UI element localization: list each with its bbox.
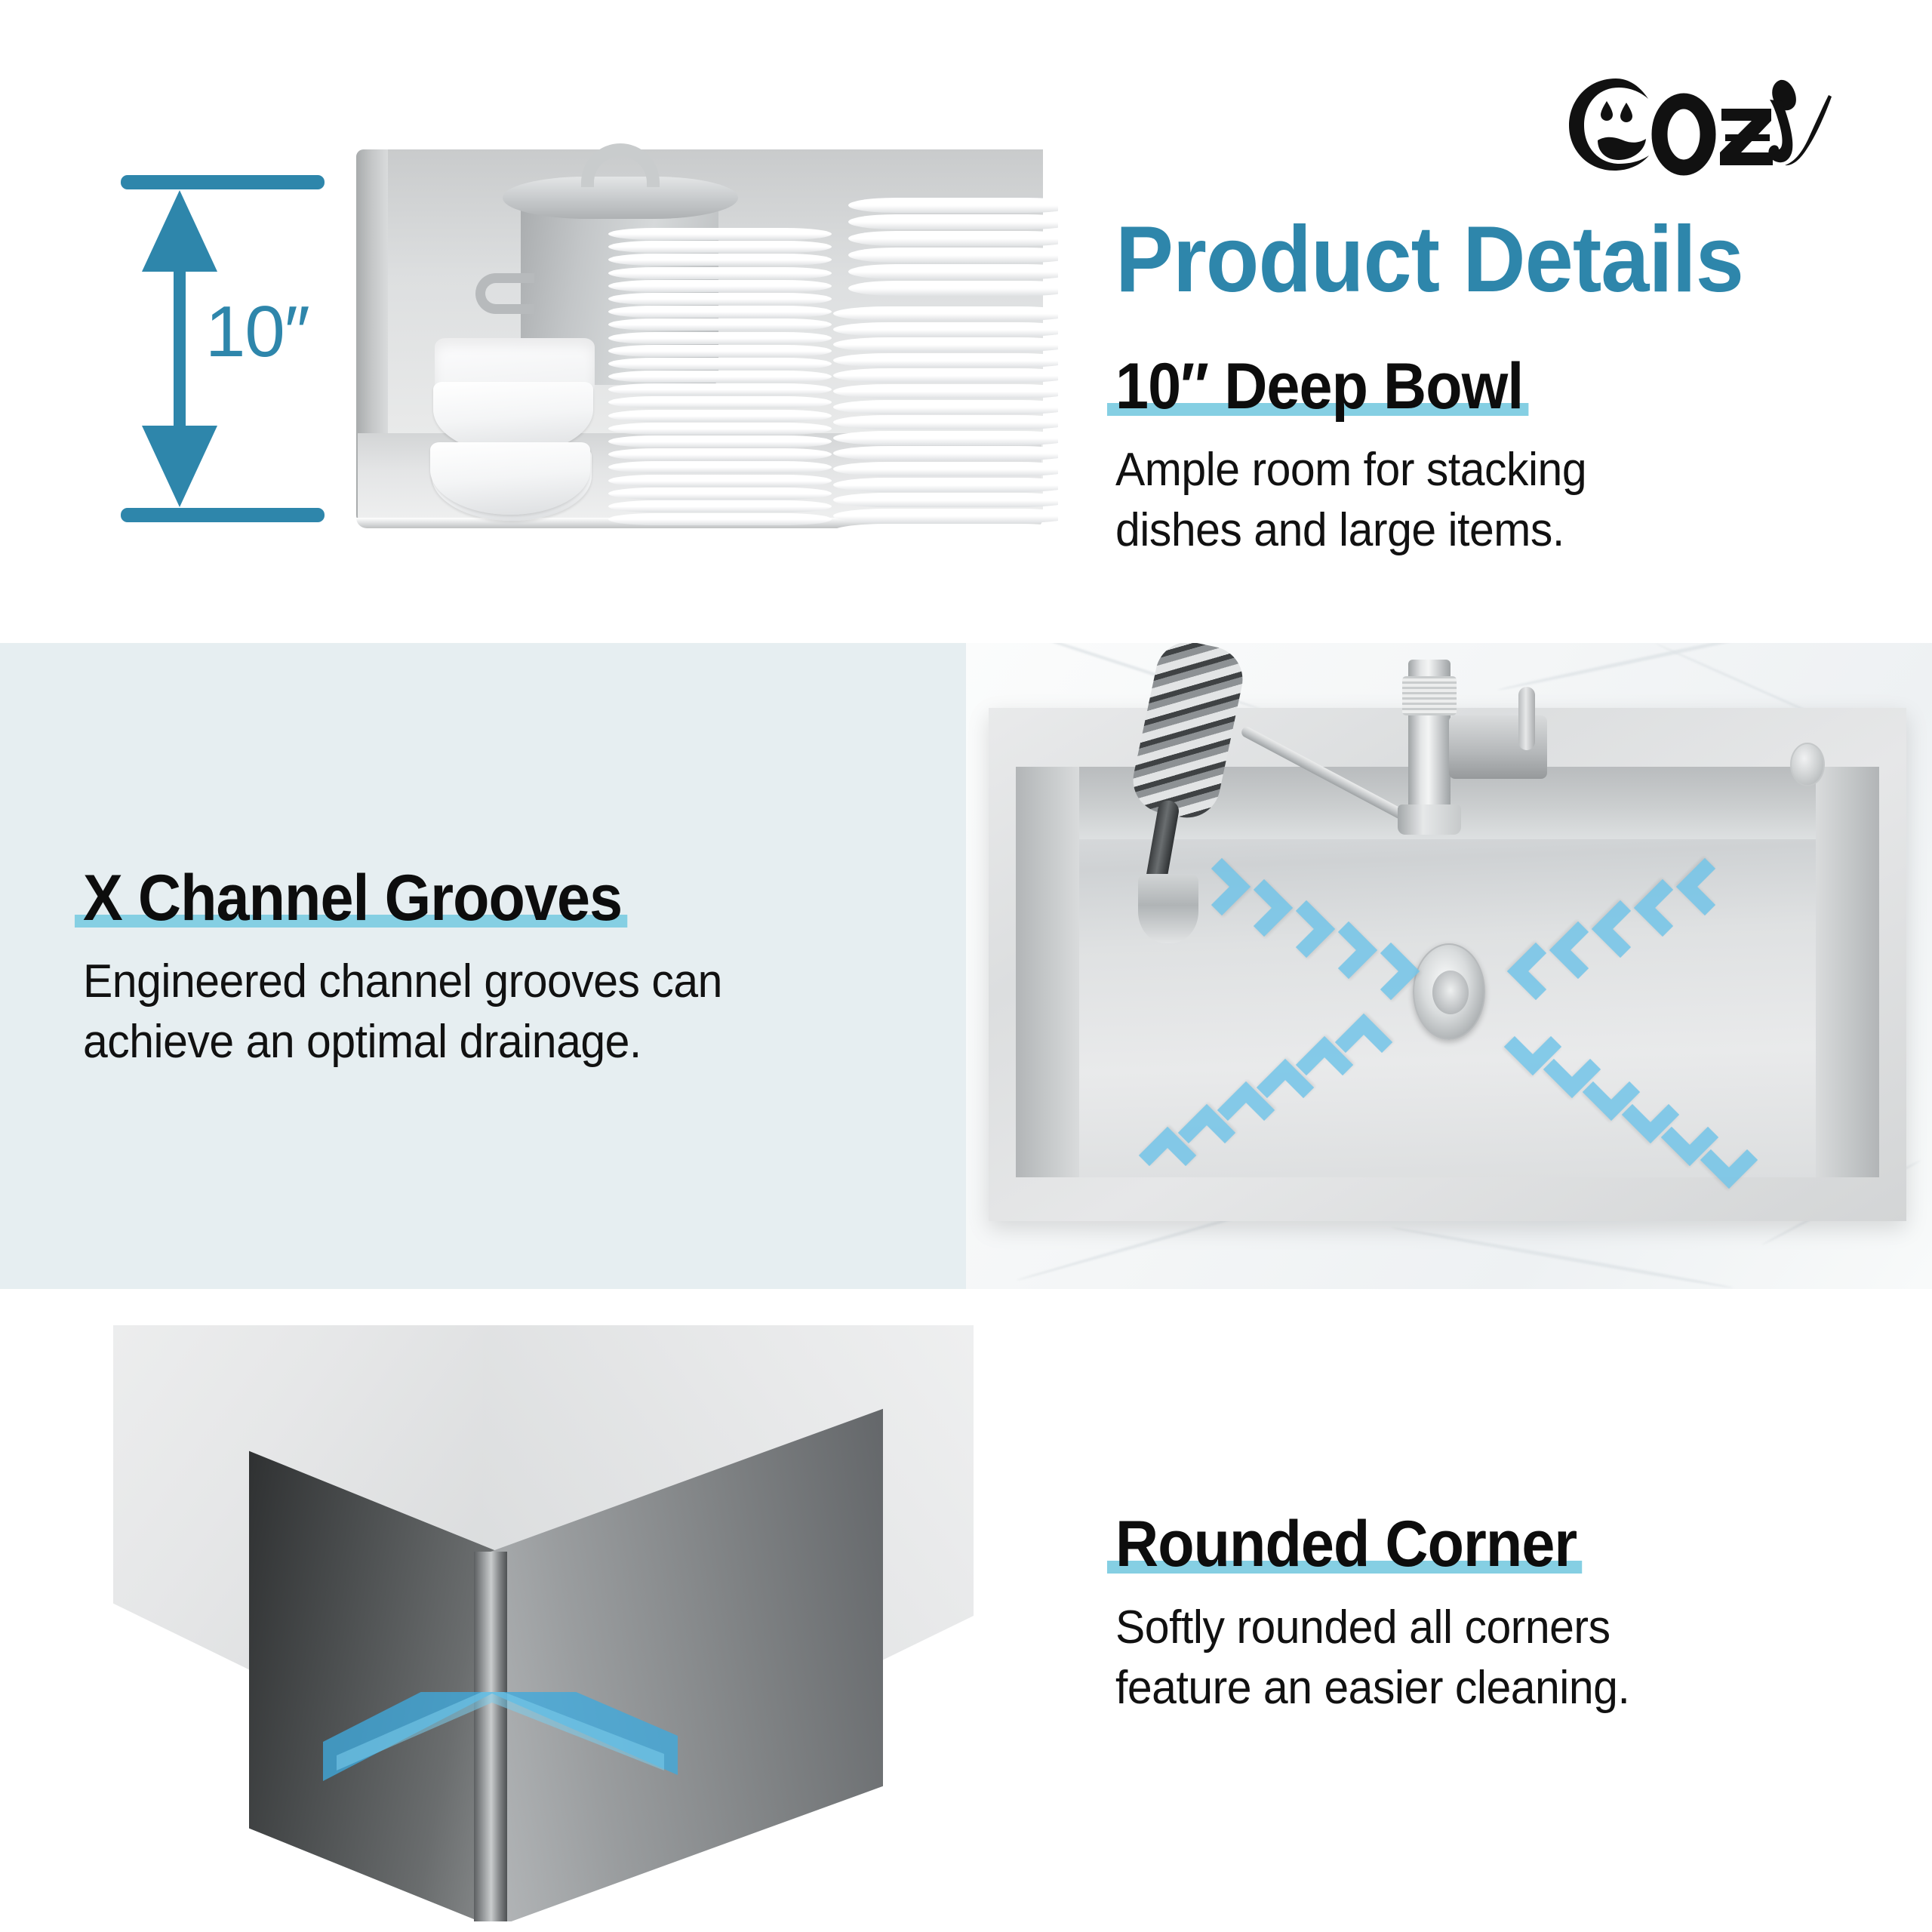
faucet-lever-handle [1518,687,1535,750]
marble-vein [1497,643,1808,692]
faucet-base [1398,804,1461,835]
deep-bowl-dishes-photo [341,113,1058,536]
feature-block-rounded-corner: Rounded Corner Softly rounded all corner… [1115,1511,1657,1718]
feature-body-x-channel-grooves: Engineered channel grooves can achieve a… [83,952,722,1072]
bowl-stack-right [833,306,1058,530]
cozy-logo [1543,65,1860,178]
plate-stack-center [608,228,832,530]
marble-vein [1391,1226,1734,1289]
basin-right-wall [1816,767,1879,1177]
depth-dimension-label: 10″ [205,296,309,368]
plate-stack-upper-right [848,198,1058,300]
soap-dispenser-hole [1790,743,1825,786]
feature-heading-text: 10″ Deep Bowl [1115,350,1523,423]
faucet-collar [1402,676,1457,715]
feature-body-rounded-corner: Softly rounded all corners feature an ea… [1115,1598,1629,1718]
rounded-corner-closeup-photo [113,1325,974,1921]
feature-heading-text: X Channel Grooves [83,862,622,934]
feature-body-deep-bowl: Ample room for stacking dishes and large… [1115,440,1586,560]
basin-left-wall [1016,767,1079,1177]
pot-side-handle [475,273,534,314]
x-channel-sink-photo [966,643,1932,1289]
feature-heading-deep-bowl: 10″ Deep Bowl [1115,353,1523,420]
feature-heading-x-channel-grooves: X Channel Grooves [83,865,622,932]
feature-block-x-channel-grooves: X Channel Grooves Engineered channel gro… [83,865,756,1072]
feature-block-deep-bowl: 10″ Deep Bowl Ample room for stacking di… [1115,353,1611,560]
sink-drain [1413,943,1485,1040]
page-title: Product Details [1115,213,1743,306]
rounded-corner-highlight-icon [323,1692,678,1783]
faucet-spray-head [1138,874,1198,943]
product-details-infographic: Product Details 10″ Deep Bowl Ample room… [0,0,1932,1932]
feature-heading-text: Rounded Corner [1115,1508,1577,1580]
feature-heading-rounded-corner: Rounded Corner [1115,1511,1577,1578]
